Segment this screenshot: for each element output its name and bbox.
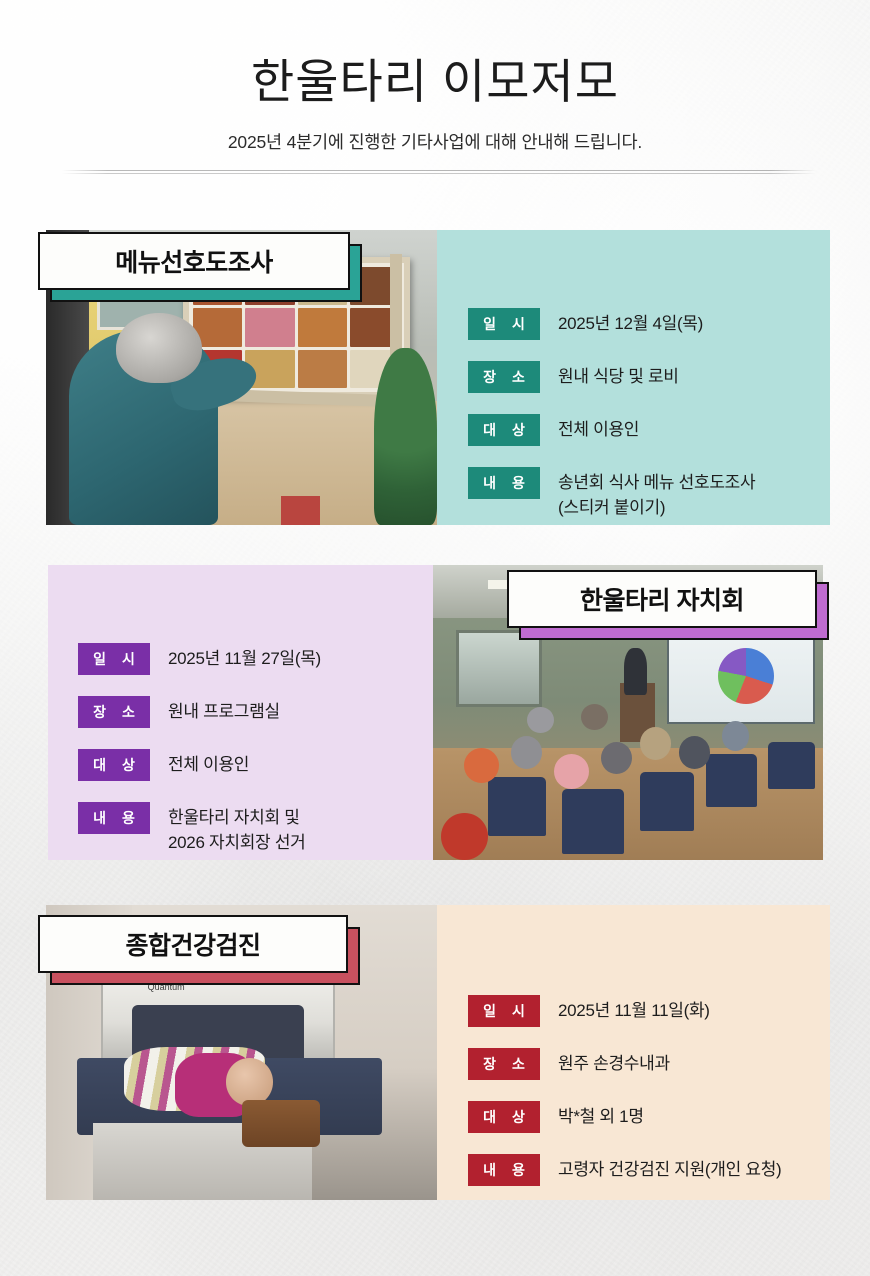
info-row: 일 시 2025년 11월 11일(화): [468, 995, 781, 1027]
pie-chart-icon: [718, 648, 774, 704]
section-health-checkup: Quantum 종합건강검진 일 시 2025년 11월 11일(화) 장 소: [0, 905, 870, 1245]
info-row: 대 상 전체 이용인: [468, 414, 755, 446]
christmas-tree-icon: [374, 348, 437, 525]
section-2-info-list: 일 시 2025년 11월 27일(목) 장 소 원내 프로그램실 대 상 전체…: [78, 643, 321, 876]
chip-content: 내 용: [468, 467, 540, 499]
badge-face: 한울타리 자치회: [507, 570, 817, 628]
info-row: 내 용 고령자 건강검진 지원(개인 요청): [468, 1154, 781, 1186]
section-menu-survey: 메뉴선호도조사 일 시 2025년 12월 4일(목) 장 소 원내 식당 및 …: [0, 230, 870, 575]
value-target: 전체 이용인: [168, 749, 249, 777]
info-row: 장 소 원내 식당 및 로비: [468, 361, 755, 393]
value-content: 한울타리 자치회 및 2026 자치회장 선거: [168, 802, 306, 855]
section-1-title: 메뉴선호도조사: [115, 243, 273, 279]
badge-face: 종합건강검진: [38, 915, 348, 973]
section-2-title-badge: 한울타리 자치회: [507, 570, 817, 628]
value-content: 송년회 식사 메뉴 선호도조사 (스티커 붙이기): [558, 467, 755, 520]
page-title: 한울타리 이모저모: [0, 0, 870, 105]
section-3-title: 종합건강검진: [125, 926, 260, 962]
value-target: 박*철 외 1명: [558, 1101, 644, 1129]
chip-place: 장 소: [78, 696, 150, 728]
header-divider: [62, 170, 816, 174]
chip-target: 대 상: [468, 1101, 540, 1133]
info-row: 장 소 원내 프로그램실: [78, 696, 321, 728]
chip-date: 일 시: [468, 308, 540, 340]
page-subtitle: 2025년 4분기에 진행한 기타사업에 대해 안내해 드립니다.: [0, 105, 870, 154]
section-3-title-badge: 종합건강검진: [38, 915, 348, 973]
section-residents-council: 한울타리 자치회 일 시 2025년 11월 27일(목) 장 소 원내 프로그…: [0, 565, 870, 905]
value-date: 2025년 11월 11일(화): [558, 995, 710, 1023]
chip-date: 일 시: [468, 995, 540, 1027]
info-row: 대 상 전체 이용인: [78, 749, 321, 781]
info-row: 대 상 박*철 외 1명: [468, 1101, 781, 1133]
value-target: 전체 이용인: [558, 414, 639, 442]
value-place: 원주 손경수내과: [558, 1048, 670, 1076]
poster-page: 한울타리 이모저모 2025년 4분기에 진행한 기타사업에 대해 안내해 드립…: [0, 0, 870, 1276]
info-row: 일 시 2025년 12월 4일(목): [468, 308, 755, 340]
value-date: 2025년 12월 4일(목): [558, 308, 703, 336]
badge-face: 메뉴선호도조사: [38, 232, 350, 290]
value-place: 원내 식당 및 로비: [558, 361, 679, 389]
section-1-title-badge: 메뉴선호도조사: [38, 232, 350, 290]
info-row: 내 용 송년회 식사 메뉴 선호도조사 (스티커 붙이기): [468, 467, 755, 520]
poster-header: 한울타리 이모저모 2025년 4분기에 진행한 기타사업에 대해 안내해 드립…: [0, 0, 870, 154]
chip-date: 일 시: [78, 643, 150, 675]
section-2-title: 한울타리 자치회: [580, 581, 744, 617]
chip-place: 장 소: [468, 1048, 540, 1080]
value-content: 고령자 건강검진 지원(개인 요청): [558, 1154, 781, 1182]
value-date: 2025년 11월 27일(목): [168, 643, 321, 671]
chip-place: 장 소: [468, 361, 540, 393]
chip-target: 대 상: [468, 414, 540, 446]
section-3-info-list: 일 시 2025년 11월 11일(화) 장 소 원주 손경수내과 대 상 박*…: [468, 995, 781, 1207]
info-row: 내 용 한울타리 자치회 및 2026 자치회장 선거: [78, 802, 321, 855]
value-place: 원내 프로그램실: [168, 696, 280, 724]
chip-content: 내 용: [78, 802, 150, 834]
chip-target: 대 상: [78, 749, 150, 781]
section-1-info-list: 일 시 2025년 12월 4일(목) 장 소 원내 식당 및 로비 대 상 전…: [468, 308, 755, 541]
info-row: 일 시 2025년 11월 27일(목): [78, 643, 321, 675]
chip-content: 내 용: [468, 1154, 540, 1186]
info-row: 장 소 원주 손경수내과: [468, 1048, 781, 1080]
